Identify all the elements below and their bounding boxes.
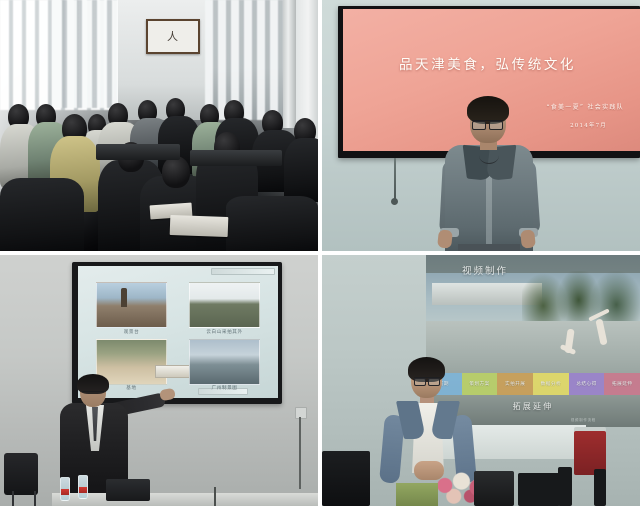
slide-thumbnail-image (96, 339, 167, 385)
open-notebook (170, 215, 229, 237)
category-block: 拓展延伸 (604, 373, 640, 395)
chair-back (594, 469, 606, 506)
slide-thumbnail-caption: 广州制景图 (183, 385, 266, 391)
slide-title: 视频制作 (462, 263, 508, 277)
photo-collage: 人 (0, 0, 640, 512)
person-body (226, 196, 318, 251)
desk (96, 144, 180, 160)
slide-thumb-cell: 广州制景图 (183, 337, 266, 391)
chair-legs (12, 491, 36, 506)
slide-footnote: 视频制作流程 (571, 417, 596, 422)
slide-thumbnail-image (189, 339, 260, 385)
presenter-hand-right (520, 229, 536, 248)
front-table (52, 493, 318, 506)
eyeglasses-icon (472, 120, 503, 128)
tower-shape (121, 288, 127, 307)
presenter-trousers (458, 244, 520, 251)
category-block: 实拍开展 (497, 373, 533, 395)
window-blinds-right (205, 0, 283, 120)
category-block: 总结心得 (569, 373, 605, 395)
water-bottle (60, 477, 70, 501)
slide-subtitle-team: “食美一夏” 社会实践队 (546, 102, 624, 111)
whiteboard-toolbar-top (211, 268, 275, 275)
green-box (396, 483, 438, 506)
microphone-stand (214, 487, 216, 506)
eyeglasses-icon (82, 391, 104, 397)
power-cable (299, 417, 301, 489)
chair-back (558, 467, 572, 506)
slide-thumb-cell: 观景台 (90, 280, 173, 334)
podium (322, 451, 370, 506)
photo-top-right: 品天津美食，弘传统文化 “食美一夏” 社会实践队 2014年7月 (322, 0, 640, 251)
laptop (106, 479, 150, 501)
slide-thumbnail-caption: 云白山采拍其外 (183, 329, 266, 335)
slide-thumbnail-image (189, 282, 260, 328)
laptop (474, 471, 514, 506)
calligraphy-character: 人 (150, 23, 196, 50)
slide-thumbnail-image (96, 282, 167, 328)
back-wall (118, 0, 210, 120)
whiteboard-slide: 观景台 云白山采拍其外 基地 广州制景图 (78, 266, 278, 398)
slide-thumbnail-grid: 观景台 云白山采拍其外 基地 广州制景图 (90, 280, 266, 390)
screen-pull-cord (394, 158, 396, 200)
office-chair (4, 453, 38, 495)
slide-title: 品天津美食，弘传统文化 (343, 53, 632, 73)
wall-pillar (283, 0, 296, 128)
photo-bottom-left: 观景台 云白山采拍其外 基地 广州制景图 (0, 255, 318, 506)
photo-bottom-right: 视频制作 前期 策划方案 实拍开展 数据分析 总结心得 拓展延伸 拓展延伸 视频… (322, 255, 640, 506)
category-block: 策划方案 (462, 373, 498, 395)
slide-thumbnail-caption: 观景台 (90, 329, 173, 335)
slide-subtitle-date: 2014年7月 (570, 121, 607, 129)
photo-top-left: 人 (0, 0, 318, 251)
desk (190, 150, 282, 166)
slide-category-blocks: 前期 策划方案 实拍开展 数据分析 总结心得 拓展延伸 (426, 373, 640, 395)
person-body (284, 138, 318, 202)
stacked-chair (518, 473, 560, 506)
wall-outlet (295, 407, 307, 419)
person-head (162, 156, 190, 188)
person-body (0, 178, 84, 251)
framed-calligraphy: 人 (146, 19, 200, 54)
slide-thumb-cell: 云白山采拍其外 (183, 280, 266, 334)
eyeglasses-icon (414, 377, 440, 384)
screen-pull-knob (391, 198, 398, 205)
water-bottle (78, 475, 88, 499)
category-block: 数据分析 (533, 373, 569, 395)
